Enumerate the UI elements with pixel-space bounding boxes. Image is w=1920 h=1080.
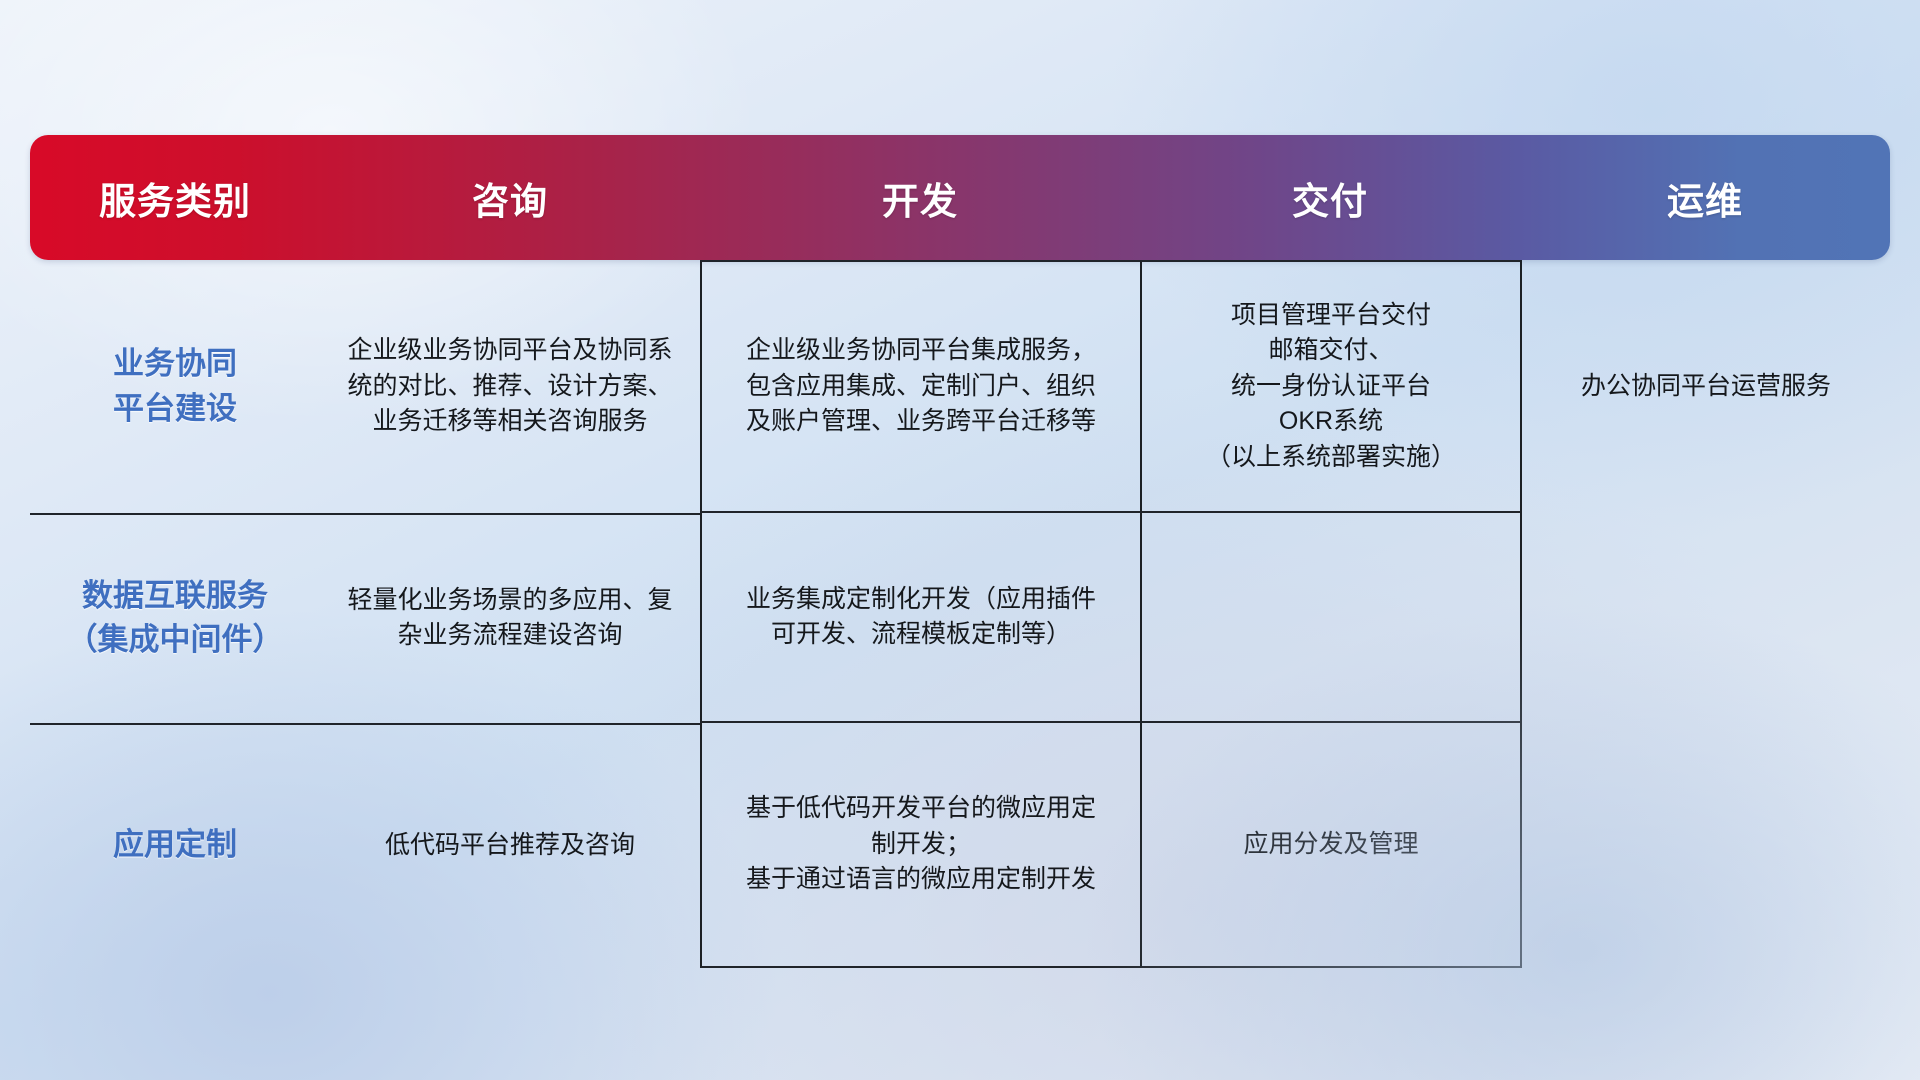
- cell-operations: [1520, 513, 1890, 723]
- cell-operations: [1520, 723, 1890, 968]
- column-header-label: 咨询: [472, 171, 548, 225]
- cell-development: 业务集成定制化开发（应用插件 可开发、流程模板定制等）: [700, 513, 1140, 723]
- cell-consulting: 轻量化业务场景的多应用、复 杂业务流程建设咨询: [320, 513, 700, 723]
- cell-category: 应用定制: [30, 723, 320, 968]
- cell-category: 业务协同 平台建设: [30, 260, 320, 513]
- table-header-row: 服务类别 咨询 开发 交付 运维: [30, 135, 1890, 260]
- row-separator-2: [30, 723, 700, 725]
- row-separator-1: [30, 513, 700, 515]
- column-header-development: 开发: [700, 135, 1140, 260]
- table-row: 应用定制 低代码平台推荐及咨询 基于低代码开发平台的微应用定 制开发； 基于通过…: [30, 723, 1890, 968]
- cell-operations: 办公协同平台运营服务: [1520, 260, 1890, 513]
- column-header-label: 服务类别: [99, 171, 251, 225]
- cell-development: 基于低代码开发平台的微应用定 制开发； 基于通过语言的微应用定制开发: [700, 723, 1140, 968]
- cell-delivery: [1140, 513, 1520, 723]
- slide-canvas: 服务类别 咨询 开发 交付 运维 业务协同 平台建设 企业级业务协同平台及协同系…: [0, 0, 1920, 1080]
- cell-consulting: 企业级业务协同平台及协同系 统的对比、推荐、设计方案、 业务迁移等相关咨询服务: [320, 260, 700, 513]
- cell-development: 企业级业务协同平台集成服务， 包含应用集成、定制门户、组织 及账户管理、业务跨平…: [700, 260, 1140, 513]
- table-row: 数据互联服务 （集成中间件） 轻量化业务场景的多应用、复 杂业务流程建设咨询 业…: [30, 513, 1890, 723]
- table-body: 业务协同 平台建设 企业级业务协同平台及协同系 统的对比、推荐、设计方案、 业务…: [30, 260, 1890, 968]
- column-header-service-category: 服务类别: [30, 135, 320, 260]
- column-header-label: 开发: [882, 171, 958, 225]
- cell-delivery: 应用分发及管理: [1140, 723, 1520, 968]
- table-row: 业务协同 平台建设 企业级业务协同平台及协同系 统的对比、推荐、设计方案、 业务…: [30, 260, 1890, 513]
- column-header-consulting: 咨询: [320, 135, 700, 260]
- column-header-operations: 运维: [1520, 135, 1890, 260]
- column-header-label: 交付: [1292, 171, 1368, 225]
- table-right-edge: [1888, 260, 1890, 968]
- cell-consulting: 低代码平台推荐及咨询: [320, 723, 700, 968]
- service-matrix-table: 服务类别 咨询 开发 交付 运维 业务协同 平台建设 企业级业务协同平台及协同系…: [30, 135, 1890, 968]
- column-header-delivery: 交付: [1140, 135, 1520, 260]
- cell-delivery: 项目管理平台交付 邮箱交付、 统一身份认证平台 OKR系统 （以上系统部署实施）: [1140, 260, 1520, 513]
- cell-category: 数据互联服务 （集成中间件）: [30, 513, 320, 723]
- column-header-label: 运维: [1667, 171, 1743, 225]
